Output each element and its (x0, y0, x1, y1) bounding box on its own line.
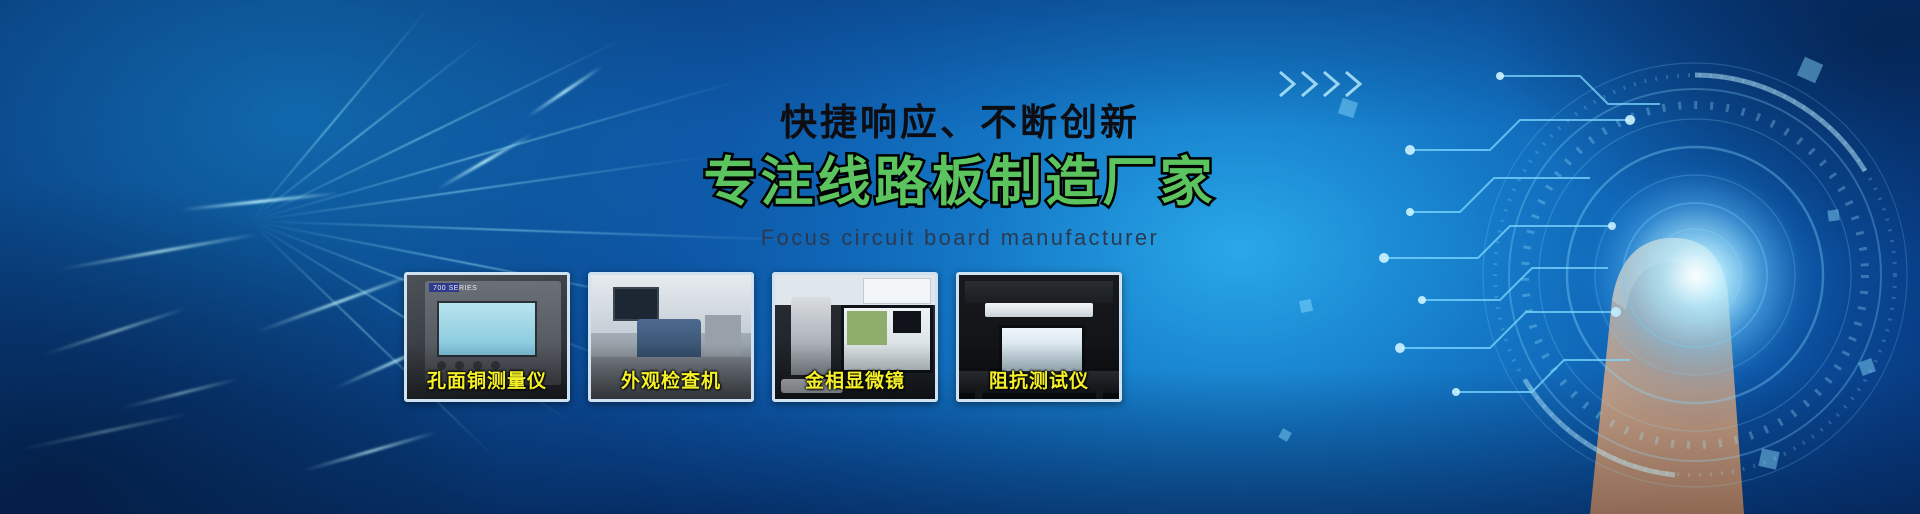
thumbnail-card[interactable]: 阻抗测试仪 (956, 272, 1122, 402)
thumbnail-caption: 金相显微镜 (775, 366, 935, 393)
thumbnail-card[interactable]: 700 SERIES 孔面铜测量仪 (404, 272, 570, 402)
thumbnail-strip: 700 SERIES 孔面铜测量仪 外观检查机 (404, 272, 1122, 402)
fingerprint-touch-graphic (1590, 170, 1800, 380)
thumbnail-card[interactable]: 金相显微镜 (772, 272, 938, 402)
thumbnail-card[interactable]: 外观检查机 (588, 272, 754, 402)
thumbnail-caption: 孔面铜测量仪 (407, 366, 567, 393)
hero-banner: 快捷响应、不断创新 专注线路板制造厂家 Focus circuit board … (0, 0, 1920, 514)
thumbnail-caption: 外观检查机 (591, 366, 751, 393)
tech-hud-circle (1160, 0, 1920, 514)
thumbnail-caption: 阻抗测试仪 (959, 366, 1119, 393)
